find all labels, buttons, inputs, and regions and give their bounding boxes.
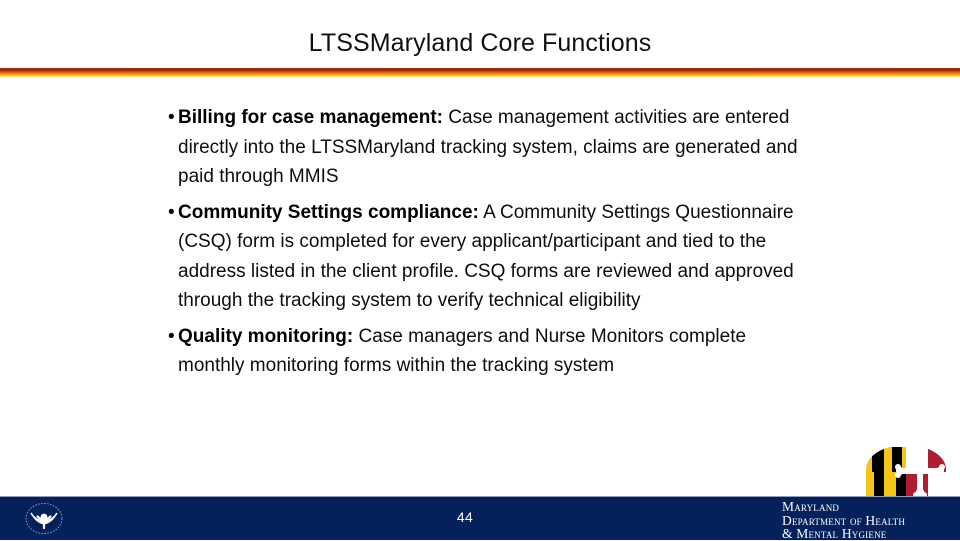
title-divider — [0, 68, 960, 77]
list-item: • Quality monitoring: Case managers and … — [160, 322, 820, 381]
bullet-lead-label: Community Settings compliance: — [178, 202, 479, 223]
list-item: • Community Settings compliance: A Commu… — [160, 198, 820, 316]
dhmh-seal-icon — [24, 502, 64, 535]
bullet-lead-label: Quality monitoring: — [178, 326, 353, 347]
content-body: • Billing for case management: Case mana… — [160, 103, 820, 387]
divider-gradient-band — [0, 71, 960, 77]
slide-canvas: LTSSMaryland Core Functions • Billing fo… — [0, 0, 960, 540]
page-title: LTSSMaryland Core Functions — [309, 28, 652, 58]
bullet-text: Billing for case management: Case manage… — [178, 103, 798, 192]
title-area: LTSSMaryland Core Functions — [0, 22, 960, 64]
agency-wordmark: Maryland Department of Health & Mental H… — [782, 500, 960, 541]
bullet-text: Quality monitoring: Case managers and Nu… — [178, 322, 798, 381]
maryland-flag-shield-icon — [862, 447, 950, 497]
bullet-glyph-icon: • — [160, 198, 178, 228]
bullet-lead-label: Billing for case management: — [178, 107, 443, 128]
page-number: 44 — [430, 508, 500, 526]
agency-line-1: Maryland — [782, 500, 960, 514]
agency-line-2: Department of Health — [782, 514, 960, 528]
agency-line-3: & Mental Hygiene — [782, 527, 960, 541]
list-item: • Billing for case management: Case mana… — [160, 103, 820, 192]
bullet-glyph-icon: • — [160, 322, 178, 352]
bullet-text: Community Settings compliance: A Communi… — [178, 198, 798, 316]
bullet-glyph-icon: • — [160, 103, 178, 133]
